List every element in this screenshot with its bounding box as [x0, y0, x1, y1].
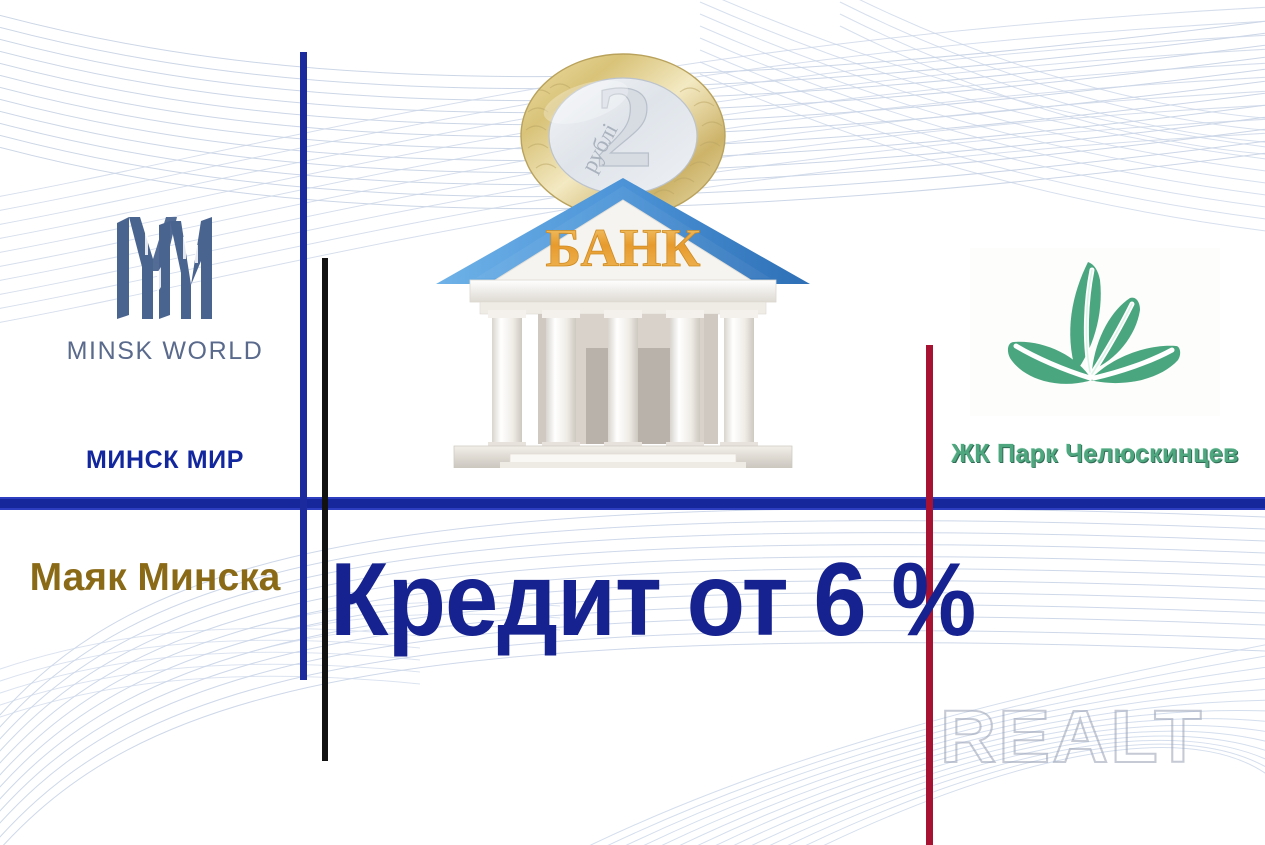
- minsk-world-logo-block: MINSK WORLD: [40, 215, 290, 366]
- park-chelyuskintsev-logo-block: [945, 248, 1245, 416]
- horizontal-blue-divider: [0, 497, 1265, 510]
- bank-building-with-coin-illustration: 2 рублі БАНК: [418, 48, 838, 468]
- promo-banner: MINSK WORLD МИНСК МИР Маяк Минска: [0, 0, 1265, 845]
- vertical-black-divider: [322, 258, 328, 761]
- park-chelyuskintsev-name: ЖК Парк Челюскинцев: [935, 438, 1255, 469]
- minsk-world-mw-monogram-icon: [109, 215, 221, 323]
- minsk-world-latin-name: MINSK WORLD: [40, 337, 290, 366]
- mayak-minska-name: Маяк Минска: [20, 556, 290, 600]
- realt-watermark: REALT: [940, 700, 1204, 774]
- bank-sign-text: БАНК: [545, 218, 700, 278]
- vertical-blue-divider: [300, 52, 307, 680]
- minsk-world-cyrillic-name: МИНСК МИР: [40, 446, 290, 475]
- headline-credit-rate: Кредит от 6 %: [330, 548, 882, 652]
- green-leaf-icon: [980, 254, 1210, 414]
- bank-building-icon: 2 рублі БАНК: [418, 48, 838, 468]
